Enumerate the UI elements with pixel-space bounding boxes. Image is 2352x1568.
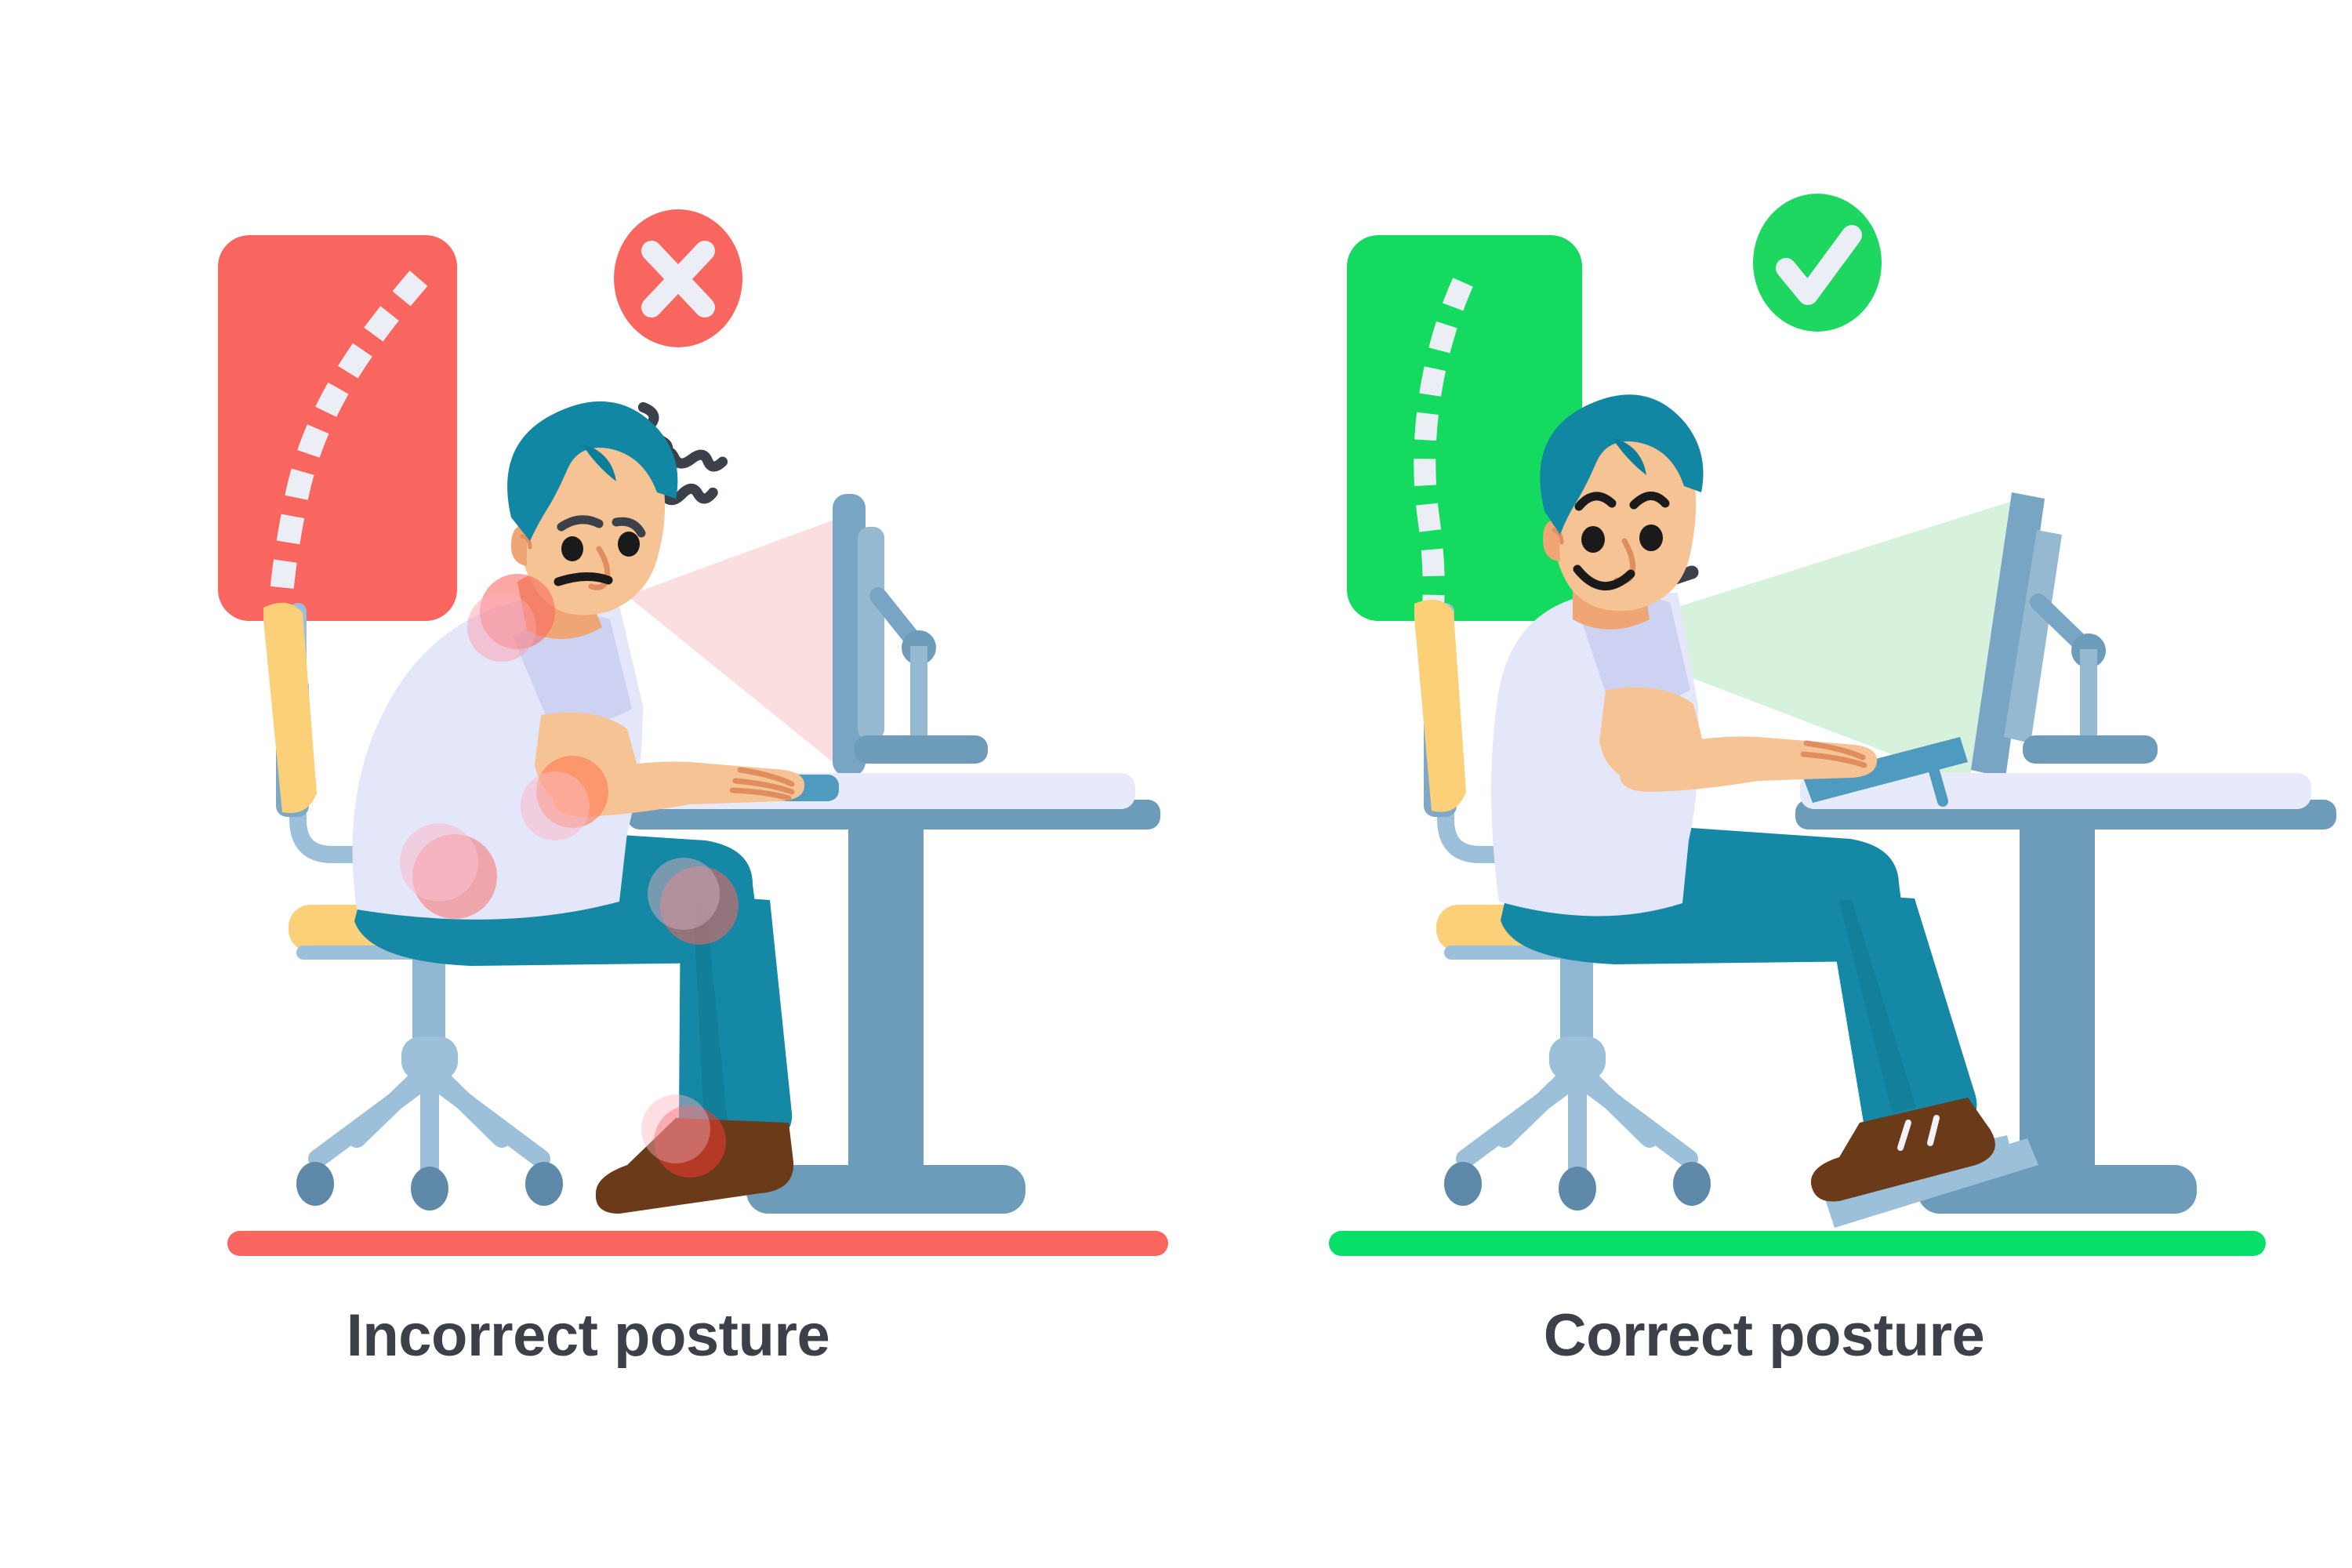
caption-correct: Correct posture: [1176, 1301, 2352, 1370]
screen-glow-cone: [627, 517, 840, 768]
panel-incorrect-posture: Incorrect posture: [0, 0, 1176, 1568]
correct-posture-scene: [1176, 0, 2352, 1301]
floor-line-correct: [1329, 1231, 2266, 1256]
status-badge-correct: [1753, 194, 1882, 332]
spine-card-incorrect: [218, 235, 457, 647]
chair-casters: [296, 1162, 563, 1210]
illustration-stage: Incorrect posture: [0, 0, 2352, 1568]
incorrect-posture-scene: [0, 0, 1176, 1301]
monitor-incorrect: [833, 494, 988, 776]
spine-card-correct: [1347, 235, 1582, 647]
chair-casters: [1444, 1162, 1711, 1210]
caption-incorrect: Incorrect posture: [0, 1301, 1176, 1370]
floor-line-incorrect: [227, 1231, 1168, 1256]
status-badge-incorrect: [614, 209, 742, 347]
panel-correct-posture: Correct posture: [1176, 0, 2352, 1568]
